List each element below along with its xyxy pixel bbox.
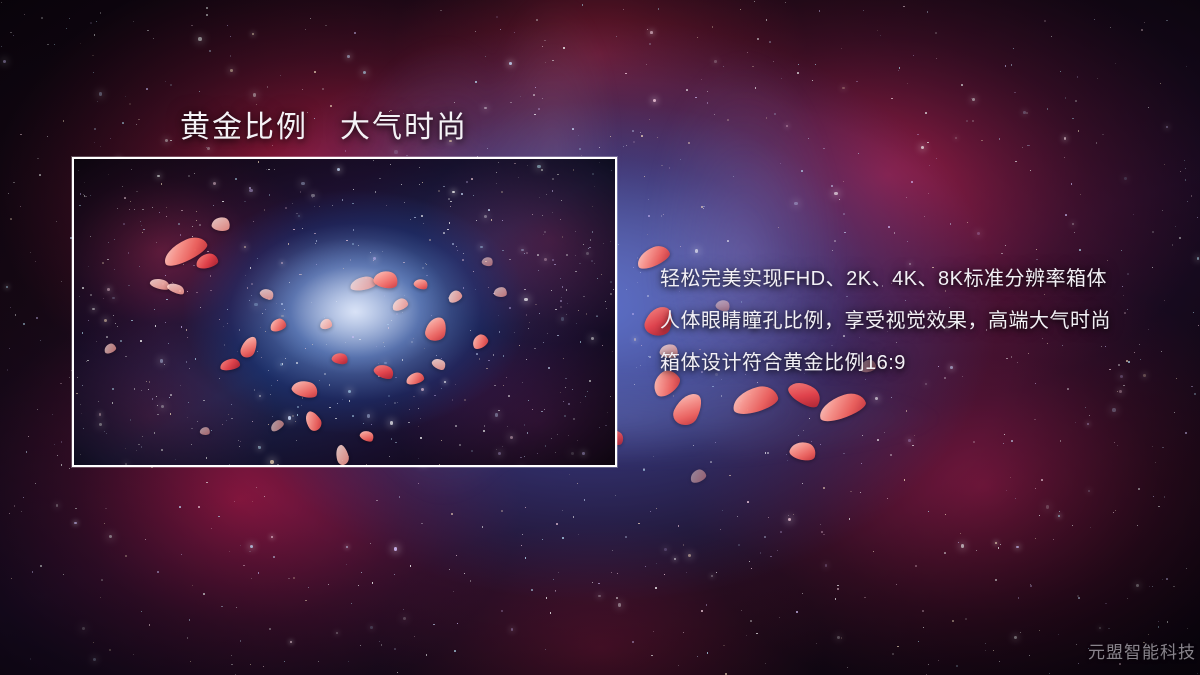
page-title: 黄金比例 大气时尚 <box>180 102 468 146</box>
framed-image-vignette <box>74 159 615 465</box>
petal <box>670 388 706 429</box>
body-line-1: 轻松完美实现FHD、2K、4K、8K标准分辨率箱体 <box>660 258 1140 300</box>
framed-image <box>72 157 617 467</box>
framed-image-content <box>74 159 615 465</box>
watermark: 元盟智能科技 <box>1088 638 1196 663</box>
slide-canvas: 黄金比例 大气时尚 轻松完美实现FHD、2K、4K、8K标准分辨率箱体 人体眼睛… <box>0 0 1200 675</box>
petal <box>688 468 707 485</box>
petal <box>730 383 780 417</box>
petal <box>816 389 868 425</box>
petal <box>788 439 818 463</box>
body-line-2: 人体眼睛瞳孔比例，享受视觉效果，高端大气时尚 <box>660 300 1140 342</box>
body-line-3: 箱体设计符合黄金比例16:9 <box>660 342 1140 384</box>
body-copy: 轻松完美实现FHD、2K、4K、8K标准分辨率箱体 人体眼睛瞳孔比例，享受视觉效… <box>660 258 1140 384</box>
